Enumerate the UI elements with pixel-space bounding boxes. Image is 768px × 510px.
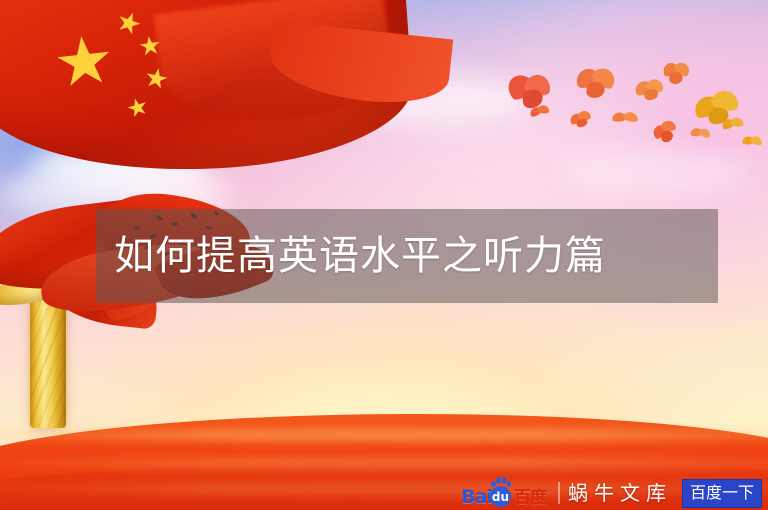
baidu-logo[interactable]: Bai du 百度 [459,479,550,507]
bird-icon-10 [721,117,745,135]
bird-icon-11 [741,135,763,152]
chinese-national-flag [0,0,410,170]
site-name-label: 蜗牛文库 [568,483,674,503]
baidu-logo-cn-text: 百度 [514,490,546,507]
hill-streak-1 [0,428,768,442]
bird-icon-2 [573,66,619,106]
watermark-bar: Bai du 百度 蜗牛文库 百度一下 [459,478,766,508]
baidu-search-button[interactable]: 百度一下 [682,479,762,508]
baidu-logo-bai-text: Bai [461,488,492,507]
baidu-logo-du-text: du [492,491,509,503]
watermark-divider [558,482,560,504]
hill-streak-2 [0,456,768,470]
cloud-7 [560,150,750,196]
page-title: 如何提高英语水平之听力篇 [96,236,606,276]
baidu-logo-du-mark: du [490,485,512,507]
screenshot-canvas: 如何提高英语水平之听力篇 Bai du 百度 蜗牛文库 百度一下 [0,0,768,510]
bird-icon-4 [660,60,692,90]
baidu-logo-du-circle: du [490,486,511,507]
bird-icon-7 [612,111,639,127]
title-overlay-band: 如何提高英语水平之听力篇 [96,209,718,303]
